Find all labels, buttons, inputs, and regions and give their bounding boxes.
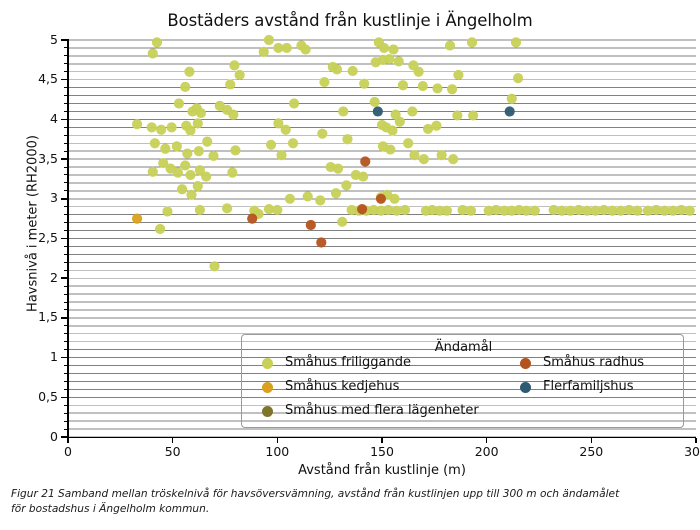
caption-line-2: för bostadshus i Ängelholm kommun.	[11, 503, 209, 515]
y-tick-minor	[64, 254, 69, 255]
y-tick-major	[61, 39, 68, 41]
legend-swatch-circle-icon	[262, 382, 273, 393]
y-tick-minor	[64, 47, 69, 48]
y-tick-minor	[64, 63, 69, 64]
y-tick-minor	[64, 389, 69, 390]
legend-item-label: Småhus med flera lägenheter	[285, 404, 479, 418]
legend: Ändamål Småhus friliggandeSmåhus kedjehu…	[241, 334, 684, 428]
x-tick-mark	[67, 438, 68, 443]
x-tick-label: 300	[666, 444, 700, 459]
y-tick-minor	[64, 294, 69, 295]
y-tick-minor	[64, 214, 69, 215]
x-tick-mark	[486, 438, 487, 443]
x-axis-label: Avstånd från kustlinje (m)	[68, 463, 696, 478]
x-tick-label: 200	[457, 444, 517, 459]
y-tick-minor	[64, 111, 69, 112]
y-tick-minor	[64, 127, 69, 128]
y-tick-minor	[64, 333, 69, 334]
y-tick-major	[61, 238, 68, 240]
x-tick-label: 0	[38, 444, 98, 459]
y-tick-minor	[64, 341, 69, 342]
y-tick-minor	[64, 286, 69, 287]
y-tick-minor	[64, 174, 69, 175]
y-tick-major	[61, 277, 68, 279]
legend-item-label: Småhus radhus	[543, 356, 644, 370]
legend-swatch-circle-icon	[520, 382, 531, 393]
legend-swatch-circle-icon	[262, 358, 273, 369]
y-tick-major	[61, 317, 68, 319]
x-tick-mark	[381, 438, 382, 443]
legend-item-label: Småhus friliggande	[285, 356, 411, 370]
x-tick-label: 50	[143, 444, 203, 459]
x-tick-mark	[277, 438, 278, 443]
y-tick-minor	[64, 325, 69, 326]
y-tick-minor	[64, 309, 69, 310]
legend-title: Ändamål	[242, 340, 685, 355]
legend-item[interactable]: Flerfamiljshus	[520, 380, 634, 394]
y-tick-minor	[64, 182, 69, 183]
y-tick-minor	[64, 206, 69, 207]
chart-title: Bostäders avstånd från kustlinje i Ängel…	[0, 11, 700, 30]
y-tick-minor	[64, 373, 69, 374]
y-tick-major	[61, 119, 68, 121]
x-tick-label: 100	[247, 444, 307, 459]
y-tick-major	[61, 79, 68, 81]
legend-item[interactable]: Småhus kedjehus	[262, 380, 399, 394]
y-tick-minor	[64, 143, 69, 144]
y-tick-minor	[64, 190, 69, 191]
y-tick-minor	[64, 103, 69, 104]
legend-swatch-circle-icon	[520, 358, 531, 369]
figure-container: Bostäders avstånd från kustlinje i Ängel…	[0, 0, 700, 530]
y-tick-major	[61, 397, 68, 399]
legend-item-label: Flerfamiljshus	[543, 380, 634, 394]
y-tick-minor	[64, 429, 69, 430]
legend-item[interactable]: Småhus radhus	[520, 356, 644, 370]
x-tick-mark	[591, 438, 592, 443]
y-tick-label: 0	[0, 429, 58, 444]
y-tick-minor	[64, 365, 69, 366]
y-tick-minor	[64, 349, 69, 350]
y-tick-minor	[64, 262, 69, 263]
y-tick-minor	[64, 302, 69, 303]
legend-item[interactable]: Småhus med flera lägenheter	[262, 404, 479, 418]
caption-line-1: Figur 21 Samband mellan tröskelnivå för …	[11, 488, 619, 500]
x-tick-label: 150	[352, 444, 412, 459]
y-tick-minor	[64, 135, 69, 136]
x-tick-mark	[695, 438, 696, 443]
y-tick-minor	[64, 381, 69, 382]
legend-swatch-circle-icon	[262, 406, 273, 417]
y-tick-major	[61, 158, 68, 160]
y-tick-major	[61, 198, 68, 200]
y-tick-major	[61, 357, 68, 359]
y-tick-minor	[64, 222, 69, 223]
y-tick-minor	[64, 413, 69, 414]
y-tick-minor	[64, 405, 69, 406]
y-axis-label: Havsnivå i meter (RH2000)	[26, 44, 41, 404]
y-tick-minor	[64, 87, 69, 88]
y-tick-minor	[64, 71, 69, 72]
figure-caption: Figur 21 Samband mellan tröskelnivå för …	[11, 487, 691, 516]
y-tick-minor	[64, 246, 69, 247]
y-tick-minor	[64, 95, 69, 96]
y-tick-minor	[64, 167, 69, 168]
y-tick-minor	[64, 270, 69, 271]
x-tick-label: 250	[561, 444, 621, 459]
legend-item-label: Småhus kedjehus	[285, 380, 399, 394]
y-tick-minor	[64, 421, 69, 422]
y-tick-minor	[64, 151, 69, 152]
x-tick-mark	[172, 438, 173, 443]
y-tick-minor	[64, 55, 69, 56]
legend-item[interactable]: Småhus friliggande	[262, 356, 411, 370]
y-tick-minor	[64, 230, 69, 231]
